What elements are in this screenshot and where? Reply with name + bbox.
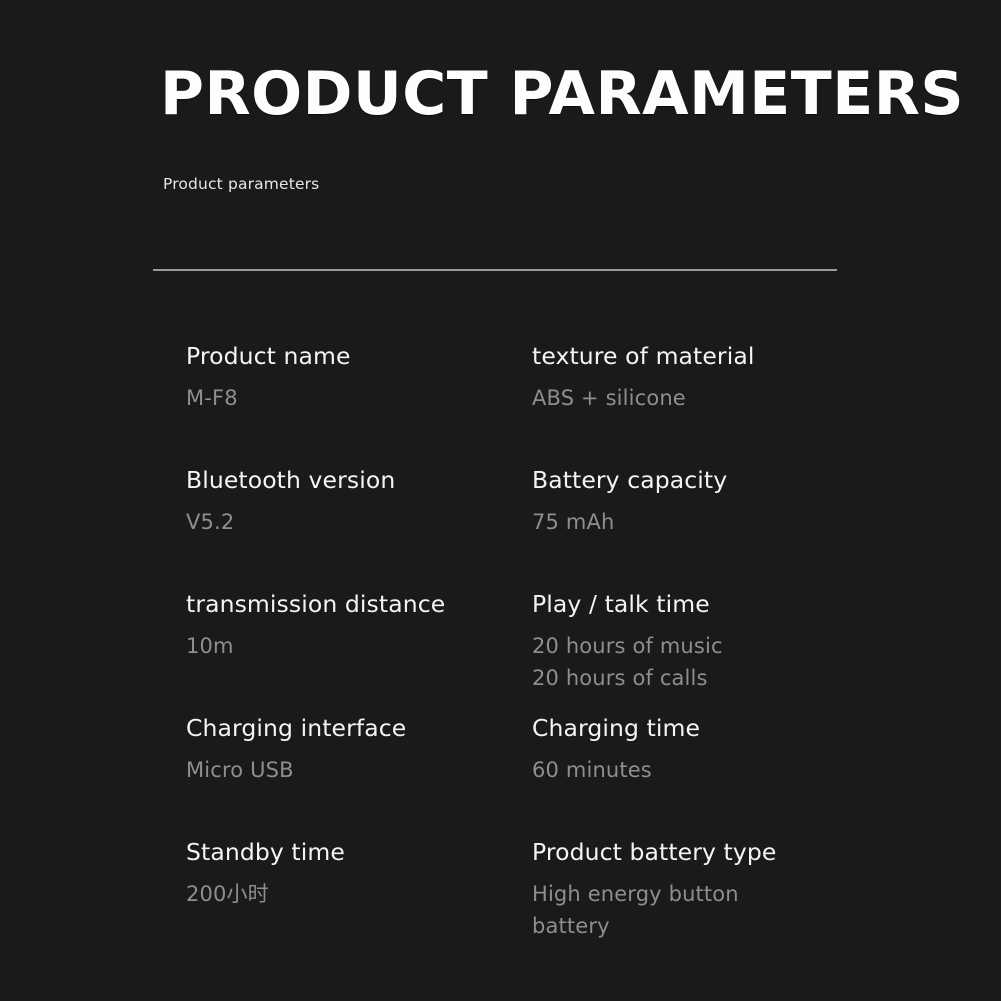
spec-value: V5.2: [186, 506, 456, 538]
product-parameters-page: PRODUCT PARAMETERS Product parameters Pr…: [0, 0, 1001, 1001]
spec-value: M-F8: [186, 382, 456, 414]
page-header: PRODUCT PARAMETERS Product parameters: [160, 62, 860, 194]
page-subtitle: Product parameters: [160, 174, 860, 194]
spec-value: Micro USB: [186, 754, 456, 786]
spec-value: ABS + silicone: [532, 382, 802, 414]
spec-label: Charging interface: [186, 713, 532, 743]
spec-value: 10m: [186, 630, 456, 662]
spec-item: texture of materialABS + silicone: [532, 341, 878, 465]
spec-label: Bluetooth version: [186, 465, 532, 495]
spec-value: High energy button battery: [532, 878, 802, 942]
spec-label: Product name: [186, 341, 532, 371]
spec-item: transmission distance10m: [186, 589, 532, 713]
spec-item: Standby time200小时: [186, 837, 532, 961]
spec-item: Bluetooth versionV5.2: [186, 465, 532, 589]
spec-label: Battery capacity: [532, 465, 878, 495]
page-title: PRODUCT PARAMETERS: [160, 62, 860, 126]
spec-item: Product battery typeHigh energy button b…: [532, 837, 878, 961]
spec-value: 200小时: [186, 878, 456, 910]
spec-value: 75 mAh: [532, 506, 802, 538]
spec-grid: Product nameM-F8texture of materialABS +…: [186, 341, 886, 961]
header-divider: [153, 269, 837, 271]
spec-value: 20 hours of music 20 hours of calls: [532, 630, 802, 694]
spec-item: Charging time60 minutes: [532, 713, 878, 837]
spec-label: Standby time: [186, 837, 532, 867]
spec-item: Product nameM-F8: [186, 341, 532, 465]
spec-label: Product battery type: [532, 837, 878, 867]
spec-label: transmission distance: [186, 589, 532, 619]
spec-item: Play / talk time20 hours of music 20 hou…: [532, 589, 878, 713]
spec-item: Battery capacity75 mAh: [532, 465, 878, 589]
spec-label: Play / talk time: [532, 589, 878, 619]
spec-label: texture of material: [532, 341, 878, 371]
spec-label: Charging time: [532, 713, 878, 743]
spec-item: Charging interfaceMicro USB: [186, 713, 532, 837]
spec-value: 60 minutes: [532, 754, 802, 786]
